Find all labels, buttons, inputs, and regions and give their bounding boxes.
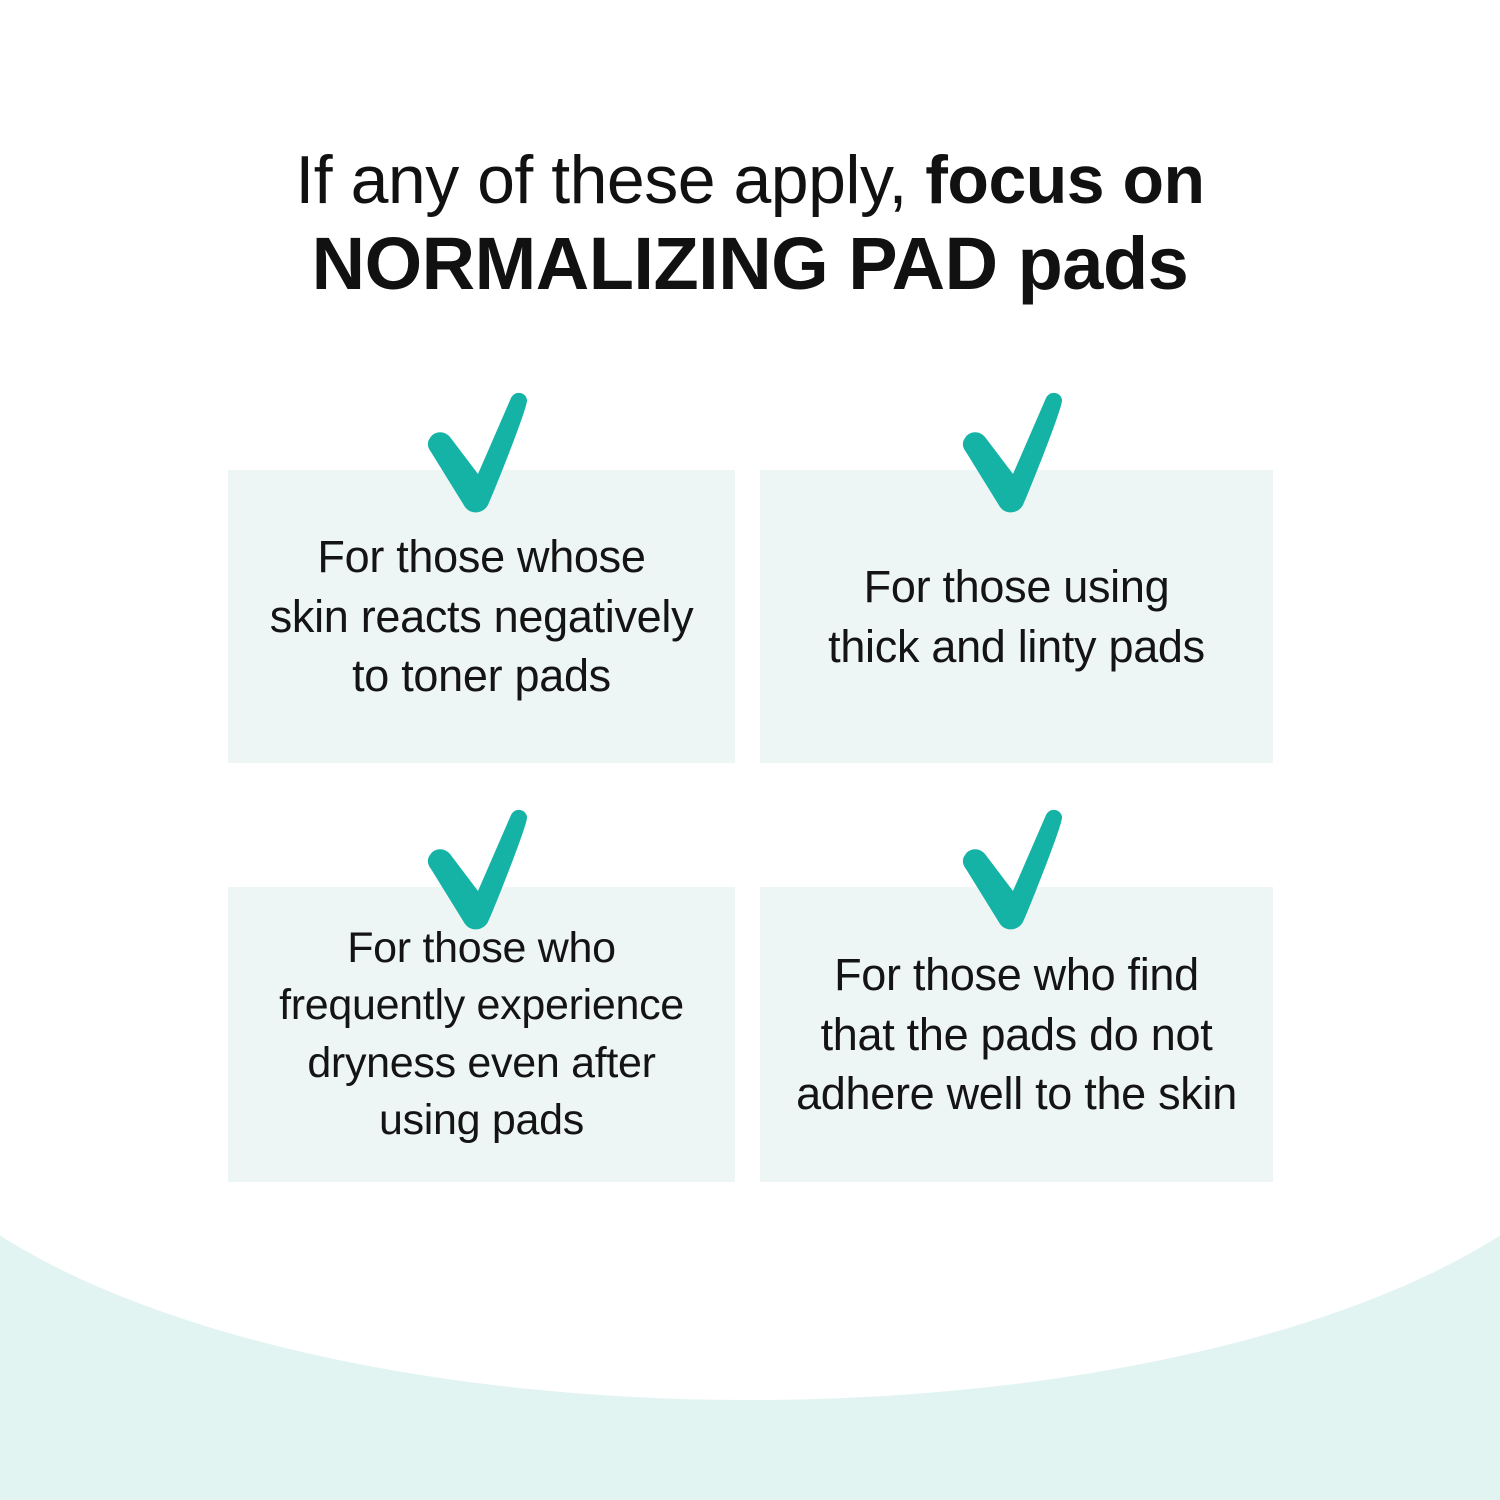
- page-title-line-1-light: If any of these apply,: [295, 142, 925, 218]
- page-title-line-1-bold: focus on: [925, 142, 1204, 218]
- page-title-line-2: NORMALIZING PAD pads: [0, 222, 1500, 306]
- benefit-card-surface: For those using thick and linty pads: [760, 470, 1273, 763]
- page-title: If any of these apply, focus on NORMALIZ…: [0, 142, 1500, 306]
- benefit-card-surface: For those whose skin reacts negatively t…: [228, 470, 735, 763]
- benefit-card: For those who find that the pads do not …: [760, 807, 1273, 1182]
- benefit-card: For those whose skin reacts negatively t…: [228, 390, 735, 763]
- benefit-card-row-bottom: For those who frequently experience dryn…: [228, 807, 1273, 1182]
- benefit-card-surface: For those who frequently experience dryn…: [228, 887, 735, 1182]
- benefit-card-text: For those who frequently experience dryn…: [279, 920, 684, 1149]
- bottom-decoration-band: [0, 1180, 1500, 1500]
- benefit-card: For those who frequently experience dryn…: [228, 807, 735, 1182]
- page-title-line-1: If any of these apply, focus on: [0, 142, 1500, 220]
- benefit-card-row-top: For those whose skin reacts negatively t…: [228, 390, 1273, 763]
- promo-canvas: If any of these apply, focus on NORMALIZ…: [0, 0, 1500, 1500]
- benefit-card-grid: For those whose skin reacts negatively t…: [228, 390, 1273, 1182]
- benefit-card-text: For those whose skin reacts negatively t…: [270, 527, 694, 707]
- benefit-card: For those using thick and linty pads: [760, 390, 1273, 763]
- benefit-card-text: For those who find that the pads do not …: [796, 945, 1237, 1125]
- benefit-card-surface: For those who find that the pads do not …: [760, 887, 1273, 1182]
- benefit-card-text: For those using thick and linty pads: [828, 557, 1205, 677]
- bottom-decoration-ellipse: [0, 1180, 1500, 1400]
